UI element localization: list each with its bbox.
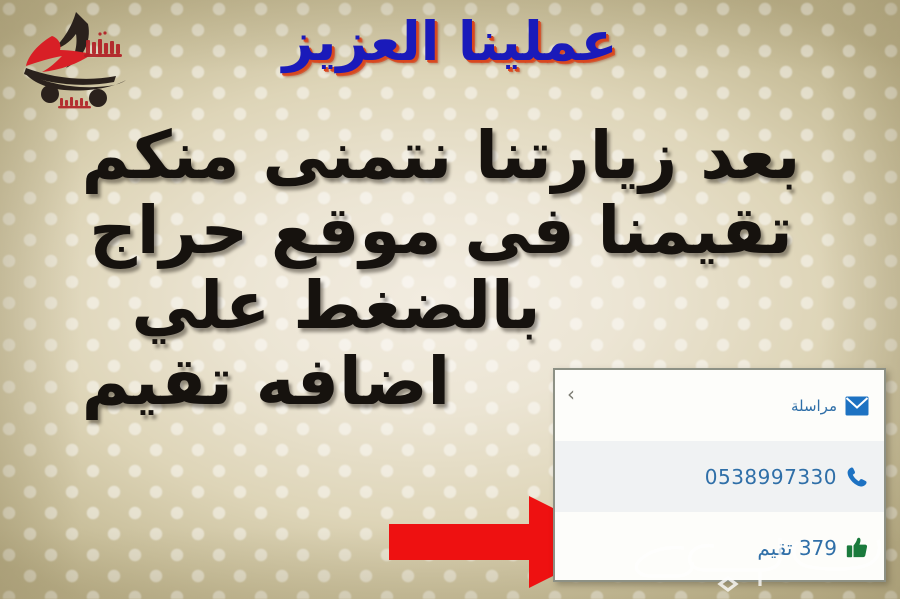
phone-icon xyxy=(844,464,870,490)
envelope-icon xyxy=(844,393,870,419)
card-row-message-label: مراسلة xyxy=(791,397,837,415)
page-title: عملينا العزيز xyxy=(0,14,900,71)
card-row-rating[interactable]: 379 تقيم xyxy=(555,512,884,582)
poster-canvas: عملينا العزيز بعد زيارتنا نتمنى منكم تقي… xyxy=(0,0,900,599)
card-row-phone-label: 0538997330 xyxy=(705,465,837,489)
card-row-phone[interactable]: 0538997330 xyxy=(555,441,884,512)
card-row-rating-label: 379 تقيم xyxy=(757,536,837,560)
thumbs-up-icon xyxy=(844,535,870,561)
body-line-3: بالضغط علي xyxy=(0,268,777,343)
body-line-2: تقيمنا فى موقع حراج xyxy=(0,193,882,268)
logo-arabic-sub xyxy=(58,97,91,108)
listing-contact-card: ‹ مراسلة 0538997330 xyxy=(553,368,886,582)
card-row-message[interactable]: مراسلة xyxy=(555,370,884,441)
body-line-1: بعد زيارتنا نتمنى منكم xyxy=(0,118,882,193)
